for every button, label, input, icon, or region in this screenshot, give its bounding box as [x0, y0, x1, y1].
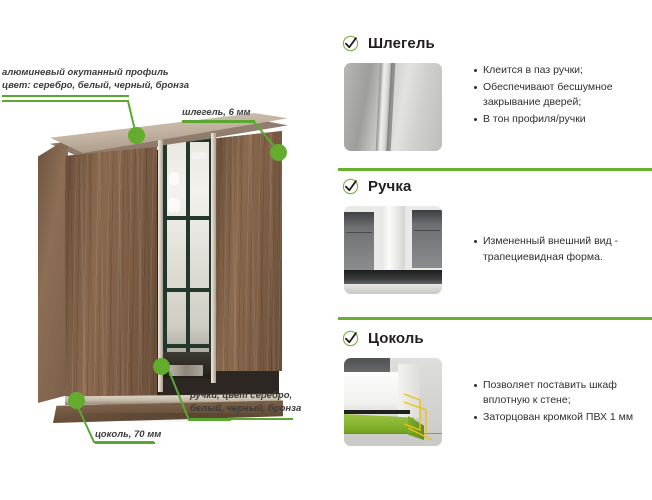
bullet-item: Заторцован кромкой ПВХ 1 мм	[474, 410, 652, 426]
handle-profile-right	[211, 133, 216, 383]
callout-dot-handles[interactable]	[153, 358, 170, 375]
feature-bullets-ruchka: Измененный внешний вид - трапециевидная …	[442, 234, 652, 266]
callout-dot-plinth[interactable]	[68, 392, 85, 409]
bullet-item: Измененный внешний вид - трапециевидная …	[474, 234, 652, 265]
feature-bullets-tsokol: Позволяет поставить шкаф вплотную к стен…	[442, 378, 652, 427]
shlegel-seal-photo	[344, 63, 442, 151]
floor-surface	[344, 284, 442, 294]
callout-underline-handles	[190, 418, 293, 420]
wardrobe-side-panel	[38, 138, 68, 403]
illustration-panel: алюминевый окутанный профиль цвет: сереб…	[0, 0, 330, 500]
bullet-item: Клеится в паз ручки;	[474, 63, 652, 79]
callout-label-handles-line2: белый, черный, бронза	[190, 403, 301, 416]
section-divider-2	[338, 317, 652, 320]
callout-label-plinth-line1: цоколь, 70 мм	[95, 429, 161, 442]
callout-label-profile: алюминевый окутанный профиль цвет: сереб…	[2, 67, 189, 92]
callout-label-shlegel-line1: шлегель, 6 мм	[182, 107, 251, 120]
check-circle-icon	[342, 35, 359, 52]
mirror-frame-left	[163, 138, 167, 378]
mirror-frame-rail-2	[163, 288, 213, 292]
callout-label-handles-line1: ручки, цвет серебро,	[190, 390, 301, 403]
check-circle-icon	[342, 330, 359, 347]
section-divider-1	[338, 168, 652, 171]
handle-profile-left	[158, 140, 163, 392]
feature-header-shlegel: Шлегель	[342, 30, 652, 56]
bullet-item: Обеспечивают бесшумное закрывание дверей…	[474, 80, 652, 111]
wood-door-right	[216, 131, 282, 371]
mirror-frame-rail-3	[163, 344, 213, 348]
callout-label-profile-line1: алюминевый окутанный профиль	[2, 67, 189, 80]
callout-underline-shlegel	[182, 120, 255, 122]
callout-dot-profile[interactable]	[128, 127, 145, 144]
panel-groove-left	[346, 232, 372, 233]
feature-body-ruchka: Измененный внешний вид - трапециевидная …	[330, 206, 652, 294]
wood-door-left	[65, 147, 157, 399]
bullet-item: В тон профиля/ручки	[474, 112, 652, 128]
callout-dot-shlegel[interactable]	[270, 144, 287, 161]
callout-underline-profile	[2, 95, 129, 97]
feature-header-tsokol: Цоколь	[342, 325, 652, 351]
feature-body-tsokol: Позволяет поставить шкаф вплотную к стен…	[330, 358, 652, 446]
callout-label-handles: ручки, цвет серебро, белый, черный, брон…	[190, 390, 301, 415]
callout-label-plinth: цоколь, 70 мм	[95, 429, 161, 442]
feature-section-shlegel: Шлегель Клеится в паз ручки; Обеспечиваю…	[330, 30, 652, 151]
plinth-photo	[344, 358, 442, 446]
door-panel-right	[412, 210, 442, 268]
callout-label-shlegel: шлегель, 6 мм	[182, 107, 251, 120]
door-track	[344, 270, 442, 285]
bullet-item: Позволяет поставить шкаф вплотную к стен…	[474, 378, 652, 409]
handle-post	[381, 206, 405, 272]
feature-header-ruchka: Ручка	[342, 173, 652, 199]
check-circle-icon	[342, 178, 359, 195]
door-panel-left	[344, 212, 374, 274]
callout-underline-plinth	[95, 442, 155, 444]
feature-bullets-shlegel: Клеится в паз ручки; Обеспечивают бесшум…	[442, 63, 652, 128]
features-panel: Шлегель Клеится в паз ручки; Обеспечиваю…	[330, 0, 652, 500]
mirror-frame-middle	[186, 138, 190, 378]
mirror-door	[163, 138, 213, 378]
feature-section-tsokol: Цоколь Позволяет поставить шкаф вплотн	[330, 325, 652, 446]
mirror-frame-rail-1	[163, 216, 213, 220]
measurement-annotation-icon	[344, 358, 442, 446]
panel-groove-right	[414, 230, 440, 231]
handle-profile-photo	[344, 206, 442, 294]
feature-title-ruchka: Ручка	[368, 178, 411, 195]
feature-title-shlegel: Шлегель	[368, 35, 435, 52]
feature-title-tsokol: Цоколь	[368, 330, 424, 347]
feature-body-shlegel: Клеится в паз ручки; Обеспечивают бесшум…	[330, 63, 652, 151]
callout-label-profile-line2: цвет: серебро, белый, черный, бронза	[2, 80, 189, 93]
mirror-reflection-2	[168, 198, 180, 212]
feature-section-ruchka: Ручка Измененный внешний вид - трапециев…	[330, 173, 652, 294]
mirror-reflection-1	[169, 172, 179, 185]
